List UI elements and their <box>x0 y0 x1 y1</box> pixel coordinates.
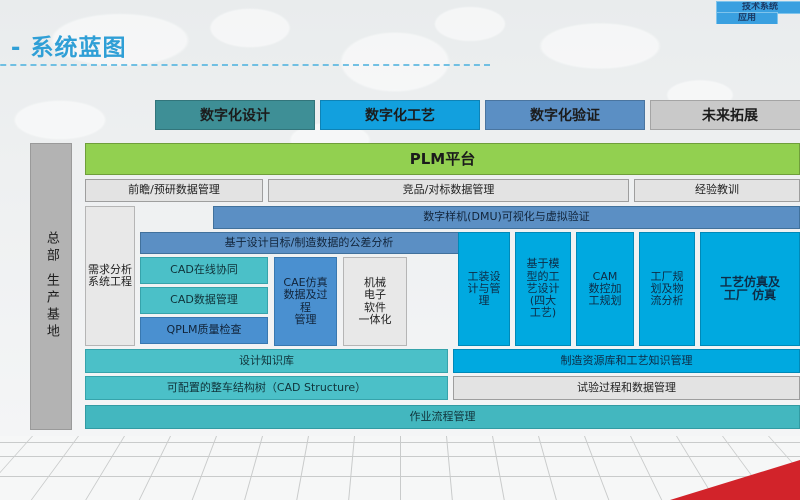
knowledge-row-label: 设计知识库 <box>237 355 296 367</box>
knowledge-row-2[interactable]: 制造资源库和工艺知识管理 <box>453 349 800 373</box>
floor-grid-line <box>492 436 505 500</box>
manufacturing-column-line: 工厂规 <box>649 271 686 283</box>
knowledge-row-5[interactable]: 作业流程管理 <box>85 405 800 429</box>
floor-grid-line <box>446 436 453 500</box>
data-management-label: 竞品/对标数据管理 <box>401 184 497 196</box>
cad-tool-stack: CAD在线协同CAD数据管理QPLM质量检查 <box>140 257 268 346</box>
cad-tool-label: CAD数据管理 <box>168 294 240 306</box>
phase-tab-label: 未来拓展 <box>702 108 758 124</box>
manufacturing-column-line: 工艺仿真及 <box>718 276 782 289</box>
floor-grid-line <box>584 436 609 500</box>
knowledge-row-label: 制造资源库和工艺知识管理 <box>559 355 695 367</box>
manufacturing-column-5[interactable]: 工艺仿真及工厂 仿真 <box>700 232 800 346</box>
data-management-label: 经验教训 <box>693 184 741 196</box>
cad-tool-label: QPLM质量检查 <box>165 324 244 336</box>
dmu-label: 数字样机(DMU)可视化与虚拟验证 <box>421 211 592 223</box>
floor-grid-line <box>31 436 79 500</box>
manufacturing-column-3[interactable]: CAM数控加工规划 <box>576 232 634 346</box>
floor-grid-line <box>630 436 662 500</box>
cae-line-4: 管理 <box>293 314 319 326</box>
title-divider <box>0 64 490 66</box>
corner-tab-application[interactable]: 应用 <box>716 12 778 24</box>
perspective-floor-grid <box>0 436 800 500</box>
phase-tab-label: 数字化工艺 <box>365 108 435 124</box>
data-management-box-2[interactable]: 竞品/对标数据管理 <box>268 179 629 202</box>
cad-tool-box-3[interactable]: QPLM质量检查 <box>140 317 268 344</box>
manufacturing-column-line: 流分析 <box>649 295 686 307</box>
knowledge-row-label: 试验过程和数据管理 <box>575 382 678 394</box>
manufacturing-column-line: CAM <box>591 271 620 283</box>
cae-simulation-box[interactable]: CAE仿真 数据及过 程 管理 <box>274 257 337 346</box>
corner-tab-group: 技术系统 应用 <box>708 0 800 24</box>
mech-line-2: 电子 <box>362 289 388 301</box>
cad-tool-box-2[interactable]: CAD数据管理 <box>140 287 268 314</box>
blueprint-content: PLM平台 前瞻/预研数据管理竞品/对标数据管理经验教训 数字样机(DMU)可视… <box>85 143 800 430</box>
manufacturing-column-4[interactable]: 工厂规划及物流分析 <box>639 232 695 346</box>
manufacturing-column-line: 工规划 <box>587 295 624 307</box>
mech-line-3: 软件 <box>362 302 388 314</box>
knowledge-row-3[interactable]: 可配置的整车结构树（CAD Structure） <box>85 376 448 400</box>
manufacturing-column-line: 工厂 仿真 <box>722 289 778 302</box>
manufacturing-column-line: 型的工 <box>525 271 562 283</box>
floor-grid-line <box>139 436 171 500</box>
mechatronics-integration-box[interactable]: 机械 电子 软件 一体化 <box>343 257 407 346</box>
floor-grid-line <box>192 436 217 500</box>
requirements-systems-engineering-box[interactable]: 需求分析 系统工程 <box>85 206 135 346</box>
data-management-box-3[interactable]: 经验教训 <box>634 179 800 202</box>
plm-platform-banner[interactable]: PLM平台 <box>85 143 800 175</box>
floor-grid-line <box>538 436 557 500</box>
manufacturing-column-line: 工艺) <box>528 307 558 319</box>
phase-tab-3[interactable]: 数字化验证 <box>485 100 645 130</box>
floor-grid-line <box>400 436 401 500</box>
knowledge-row-1[interactable]: 设计知识库 <box>85 349 448 373</box>
manufacturing-column-group: 工装设计与管理基于模型的工艺设计(四大工艺)CAM数控加工规划工厂规划及物流分析… <box>458 232 800 346</box>
cae-line-2: 数据及过 <box>282 289 330 301</box>
phase-tab-label: 数字化设计 <box>200 108 270 124</box>
data-management-row: 前瞻/预研数据管理竞品/对标数据管理经验教训 <box>85 179 800 202</box>
floor-grid-line <box>348 436 355 500</box>
mech-line-4: 一体化 <box>357 314 394 326</box>
cad-tool-box-1[interactable]: CAD在线协同 <box>140 257 268 284</box>
phase-tab-row: 数字化设计数字化工艺数字化验证未来拓展 <box>155 100 800 130</box>
manufacturing-column-line: 理 <box>477 295 492 307</box>
manufacturing-column-line: 工装设 <box>466 271 503 283</box>
phase-tab-2[interactable]: 数字化工艺 <box>320 100 480 130</box>
phase-tab-label: 数字化验证 <box>530 108 600 124</box>
floor-grid-line <box>0 436 33 500</box>
cae-line-3: 程 <box>298 302 313 314</box>
blueprint-panel: 总部 生产基地 PLM平台 前瞻/预研数据管理竞品/对标数据管理经验教训 数字样… <box>30 143 800 436</box>
tolerance-analysis-bar[interactable]: 基于设计目标/制造数据的公差分析 <box>140 232 478 254</box>
knowledge-base-row-group: 设计知识库制造资源库和工艺知识管理可配置的整车结构树（CAD Structure… <box>85 349 800 430</box>
phase-tab-4[interactable]: 未来拓展 <box>650 100 800 130</box>
manufacturing-column-line: 基于模 <box>525 258 562 270</box>
floor-grid-line <box>244 436 263 500</box>
dmu-banner[interactable]: 数字样机(DMU)可视化与虚拟验证 <box>213 206 800 229</box>
plm-platform-label: PLM平台 <box>408 151 477 168</box>
floor-grid-line <box>85 436 125 500</box>
manufacturing-column-2[interactable]: 基于模型的工艺设计(四大工艺) <box>515 232 571 346</box>
data-management-box-1[interactable]: 前瞻/预研数据管理 <box>85 179 263 202</box>
knowledge-row-label: 可配置的整车结构树（CAD Structure） <box>165 382 368 394</box>
requirements-line-2: 系统工程 <box>86 276 134 288</box>
data-management-label: 前瞻/预研数据管理 <box>126 184 222 196</box>
knowledge-row-4[interactable]: 试验过程和数据管理 <box>453 376 800 400</box>
tolerance-analysis-label: 基于设计目标/制造数据的公差分析 <box>223 237 396 249</box>
floor-grid-line <box>296 436 309 500</box>
knowledge-row-label: 作业流程管理 <box>408 411 478 423</box>
manufacturing-column-1[interactable]: 工装设计与管理 <box>458 232 510 346</box>
page-title: M - 系统蓝图 <box>0 28 126 62</box>
org-sidebar-label: 总部 生产基地 <box>44 231 58 341</box>
org-sidebar: 总部 生产基地 <box>30 143 72 430</box>
cad-tool-label: CAD在线协同 <box>168 264 240 276</box>
phase-tab-1[interactable]: 数字化设计 <box>155 100 315 130</box>
